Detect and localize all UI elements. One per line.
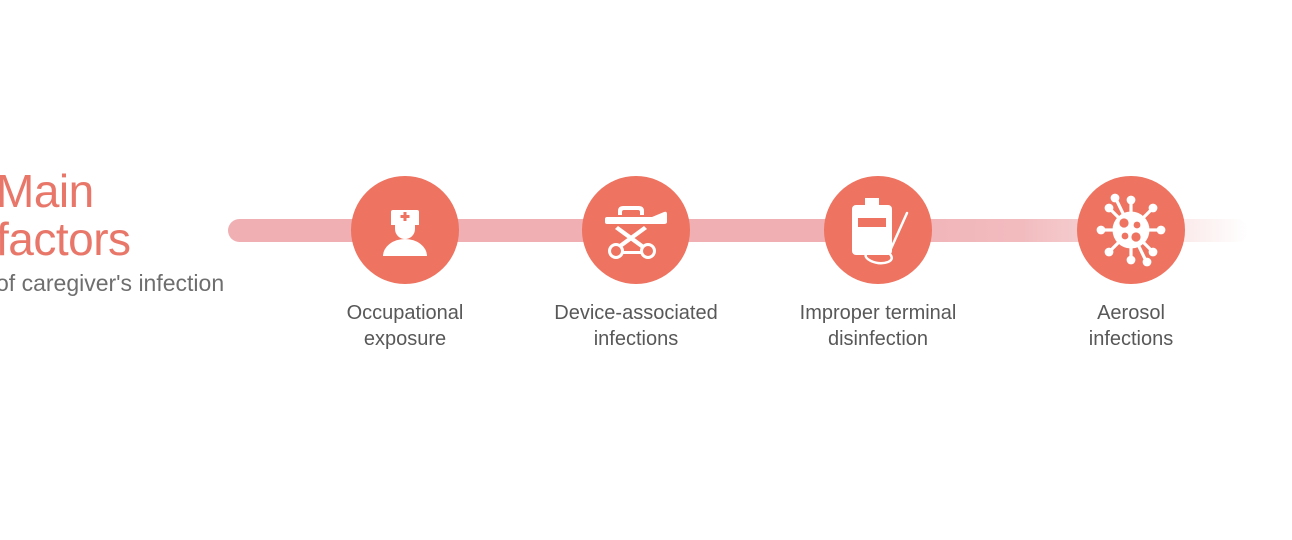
- step-item-improper-terminal-disinfection[interactable]: Improper terminal disinfection: [778, 176, 978, 352]
- step-label: Improper terminal disinfection: [800, 300, 957, 352]
- step-label: Occupational exposure: [347, 300, 464, 352]
- step-item-occupational-exposure[interactable]: Occupational exposure: [305, 176, 505, 352]
- step-item-device-associated-infections[interactable]: Device-associated infections: [536, 176, 736, 352]
- step-icon-circle[interactable]: [582, 176, 690, 284]
- step-icon-circle[interactable]: [824, 176, 932, 284]
- step-label: Aerosol infections: [1089, 300, 1174, 352]
- step-icon-circle[interactable]: [1077, 176, 1185, 284]
- steps-row: Occupational exposure: [0, 0, 1292, 540]
- stretcher-icon: [601, 199, 671, 261]
- disinfectant-bottle-mop-icon: [845, 195, 911, 265]
- step-icon-circle[interactable]: [351, 176, 459, 284]
- step-label: Device-associated infections: [554, 300, 717, 352]
- nurse-icon: [373, 198, 437, 262]
- virus-icon: [1094, 193, 1168, 267]
- step-item-aerosol-infections[interactable]: Aerosol infections: [1031, 176, 1231, 352]
